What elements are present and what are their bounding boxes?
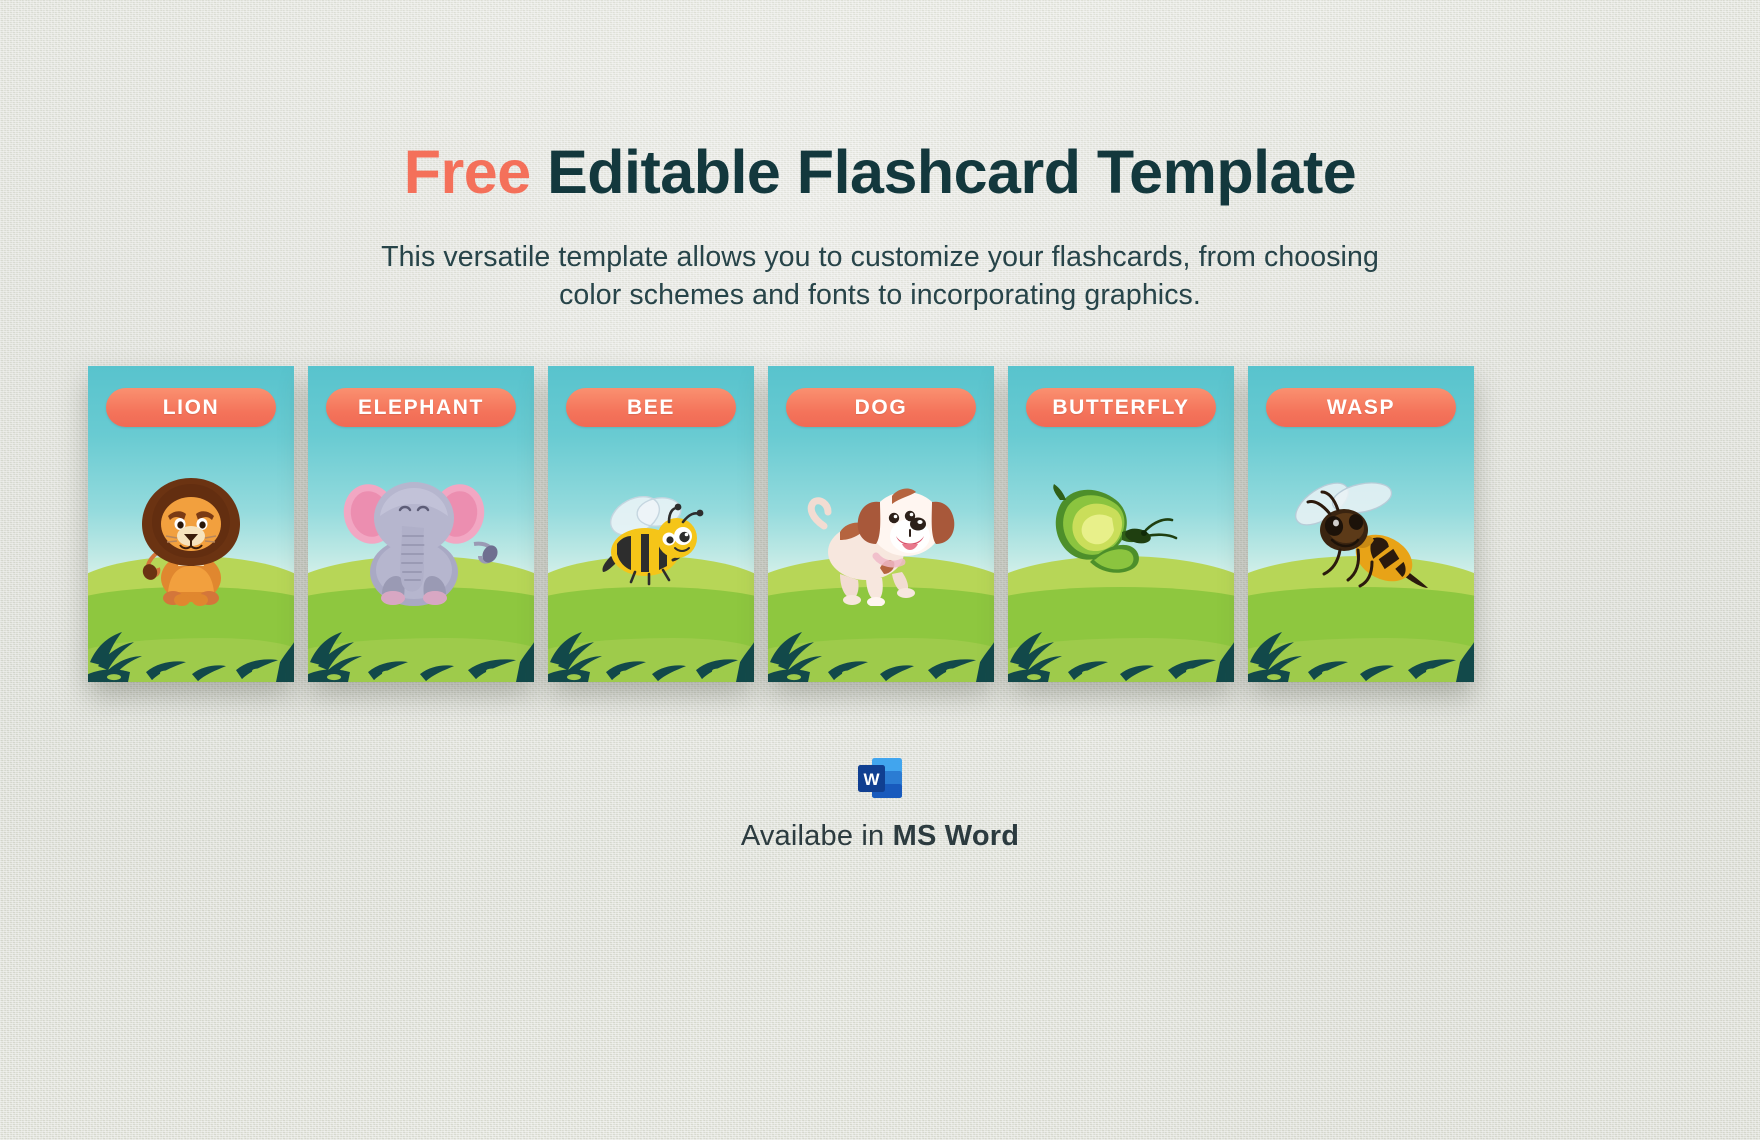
flashcard-elephant[interactable]: ELEPHANT	[308, 366, 534, 682]
card-label-pill[interactable]: LION	[106, 388, 276, 427]
card-label-pill[interactable]: BUTTERFLY	[1026, 388, 1216, 427]
card-label: BUTTERFLY	[1052, 396, 1189, 420]
footer-text-prefix: Availabe in	[741, 820, 893, 852]
flashcard-dog[interactable]: DOG	[768, 366, 994, 682]
card-label-pill[interactable]: ELEPHANT	[326, 388, 516, 427]
card-label-pill[interactable]: DOG	[786, 388, 976, 427]
footer-text: Availabe in MS Word	[0, 820, 1760, 853]
subtitle-line-2: color schemes and fonts to incorporating…	[559, 279, 1201, 311]
microsoft-word-icon: W	[854, 752, 906, 804]
flashcard-bee[interactable]: BEE	[548, 366, 754, 682]
subtitle-line-1: This versatile template allows you to cu…	[381, 241, 1379, 273]
flashcard-strip: LION	[88, 366, 1500, 682]
flashcard-butterfly[interactable]: BUTTERFLY	[1008, 366, 1234, 682]
page-subtitle: This versatile template allows you to cu…	[265, 238, 1495, 315]
card-hill-front	[1248, 638, 1474, 682]
card-label: BEE	[627, 396, 675, 420]
card-label-pill[interactable]: BEE	[566, 388, 736, 427]
card-hill-front	[548, 638, 754, 682]
footer: W Availabe in MS Word	[0, 752, 1760, 853]
card-label: DOG	[855, 396, 908, 420]
card-hill-front	[1008, 638, 1234, 682]
card-hill-front	[88, 638, 294, 682]
flashcard-wasp[interactable]: WASP	[1248, 366, 1474, 682]
card-label: ELEPHANT	[358, 396, 484, 420]
footer-brand: MS Word	[893, 820, 1020, 852]
card-hill-front	[768, 638, 994, 682]
card-label: LION	[163, 396, 220, 420]
page-title: Free Editable Flashcard Template	[0, 140, 1760, 204]
svg-text:W: W	[863, 770, 880, 789]
title-highlight: Free	[404, 138, 531, 206]
title-rest: Editable Flashcard Template	[531, 138, 1357, 206]
flashcard-lion[interactable]: LION	[88, 366, 294, 682]
card-label-pill[interactable]: WASP	[1266, 388, 1456, 427]
card-hill-front	[308, 638, 534, 682]
card-label: WASP	[1327, 396, 1395, 420]
